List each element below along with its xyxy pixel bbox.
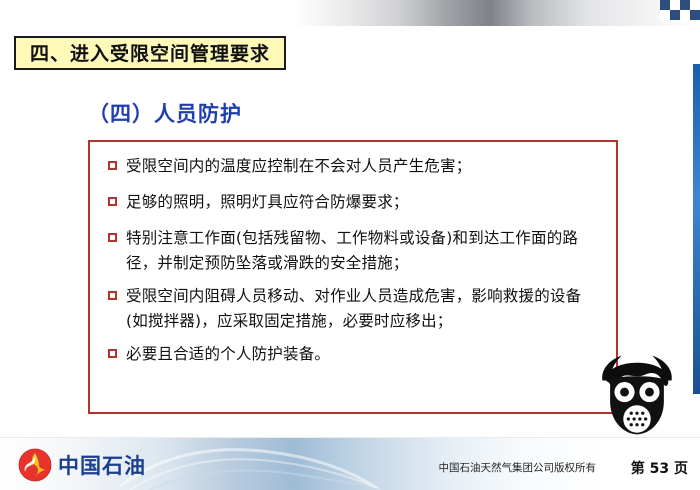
brand-logo: 中国石油 bbox=[18, 448, 146, 482]
square-bullet-icon bbox=[108, 349, 117, 358]
content-box: 受限空间内的温度应控制在不会对人员产生危害； 足够的照明，照明灯具应符合防爆要求… bbox=[88, 140, 618, 414]
list-item-text: 特别注意工作面(包括残留物、工作物料或设备)和到达工作面的路径，并制定预防坠落或… bbox=[126, 226, 600, 276]
list-item-text: 必要且合适的个人防护装备。 bbox=[126, 342, 330, 367]
petrochina-sun-icon bbox=[18, 448, 52, 482]
square-bullet-icon bbox=[108, 161, 117, 170]
list-item: 足够的照明，照明灯具应符合防爆要求； bbox=[108, 190, 600, 215]
checkerboard-decoration bbox=[660, 0, 700, 20]
slide-title-box: 四、进入受限空间管理要求 bbox=[14, 36, 286, 70]
list-item-text: 受限空间内的温度应控制在不会对人员产生危害； bbox=[126, 154, 471, 179]
page-title: 四、进入受限空间管理要求 bbox=[30, 39, 270, 66]
square-bullet-icon bbox=[108, 197, 117, 206]
list-item-text: 足够的照明，照明灯具应符合防爆要求； bbox=[126, 190, 409, 215]
page-number: 第 53 页 bbox=[631, 458, 688, 478]
brand-name: 中国石油 bbox=[58, 450, 146, 480]
list-item: 特别注意工作面(包括残留物、工作物料或设备)和到达工作面的路径，并制定预防坠落或… bbox=[108, 226, 600, 276]
swirl-decoration bbox=[120, 438, 380, 490]
top-decorative-band bbox=[0, 0, 700, 26]
section-subtitle: （四）人员防护 bbox=[88, 98, 242, 128]
list-item: 必要且合适的个人防护装备。 bbox=[108, 342, 600, 367]
slide-root: 四、进入受限空间管理要求 （四）人员防护 受限空间内的温度应控制在不会对人员产生… bbox=[0, 0, 700, 490]
square-bullet-icon bbox=[108, 233, 117, 242]
gas-mask-icon bbox=[588, 346, 686, 442]
copyright-text: 中国石油天然气集团公司版权所有 bbox=[439, 460, 597, 475]
right-accent-bar bbox=[693, 64, 700, 394]
square-bullet-icon bbox=[108, 291, 117, 300]
list-item-text: 受限空间内阻碍人员移动、对作业人员造成危害，影响救援的设备(如搅拌器)，应采取固… bbox=[126, 284, 600, 334]
list-item: 受限空间内阻碍人员移动、对作业人员造成危害，影响救援的设备(如搅拌器)，应采取固… bbox=[108, 284, 600, 334]
list-item: 受限空间内的温度应控制在不会对人员产生危害； bbox=[108, 154, 600, 179]
